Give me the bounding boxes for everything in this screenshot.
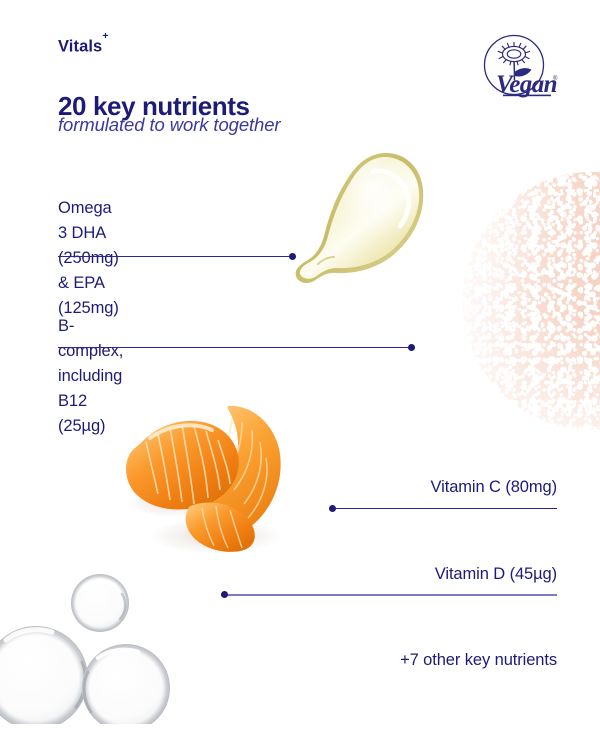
brand-name-text: Vitals bbox=[58, 38, 102, 56]
connector-line-vitamin-d bbox=[221, 589, 557, 601]
registered-mark: ® bbox=[553, 75, 558, 82]
connector-line-bcomplex bbox=[58, 342, 415, 354]
connector-rule bbox=[221, 594, 557, 596]
page-subtitle: formulated to work together bbox=[58, 114, 281, 136]
brand-name: Vitals+ bbox=[58, 36, 109, 57]
connector-node-dot bbox=[221, 591, 228, 598]
vegan-wordmark: Vegan bbox=[496, 71, 557, 98]
connector-node-dot bbox=[329, 505, 336, 512]
connector-node-dot bbox=[289, 253, 296, 260]
brand-superscript: + bbox=[102, 30, 108, 42]
nutrient-label-vitamin-d: Vitamin D (45µg) bbox=[300, 562, 557, 587]
connector-line-vitamin-c bbox=[329, 503, 557, 515]
connector-rule bbox=[58, 256, 296, 257]
connector-rule bbox=[329, 508, 557, 509]
nutrient-label-vitamin-c: Vitamin C (80mg) bbox=[317, 475, 557, 500]
connector-node-dot bbox=[408, 344, 415, 351]
svg-text:Vegan: Vegan bbox=[496, 71, 557, 98]
connector-rule bbox=[58, 347, 415, 348]
nutrient-label-other: +7 other key nutrients bbox=[300, 648, 557, 673]
vegan-certification-badge: Vegan ® bbox=[478, 34, 564, 106]
nutrient-label-bcomplex: B-complex, including B12 (25µg) bbox=[58, 314, 123, 439]
connector-line-omega bbox=[58, 251, 296, 263]
content-layer: Vitals+ 20 key nutrients formulated to w… bbox=[0, 0, 600, 720]
